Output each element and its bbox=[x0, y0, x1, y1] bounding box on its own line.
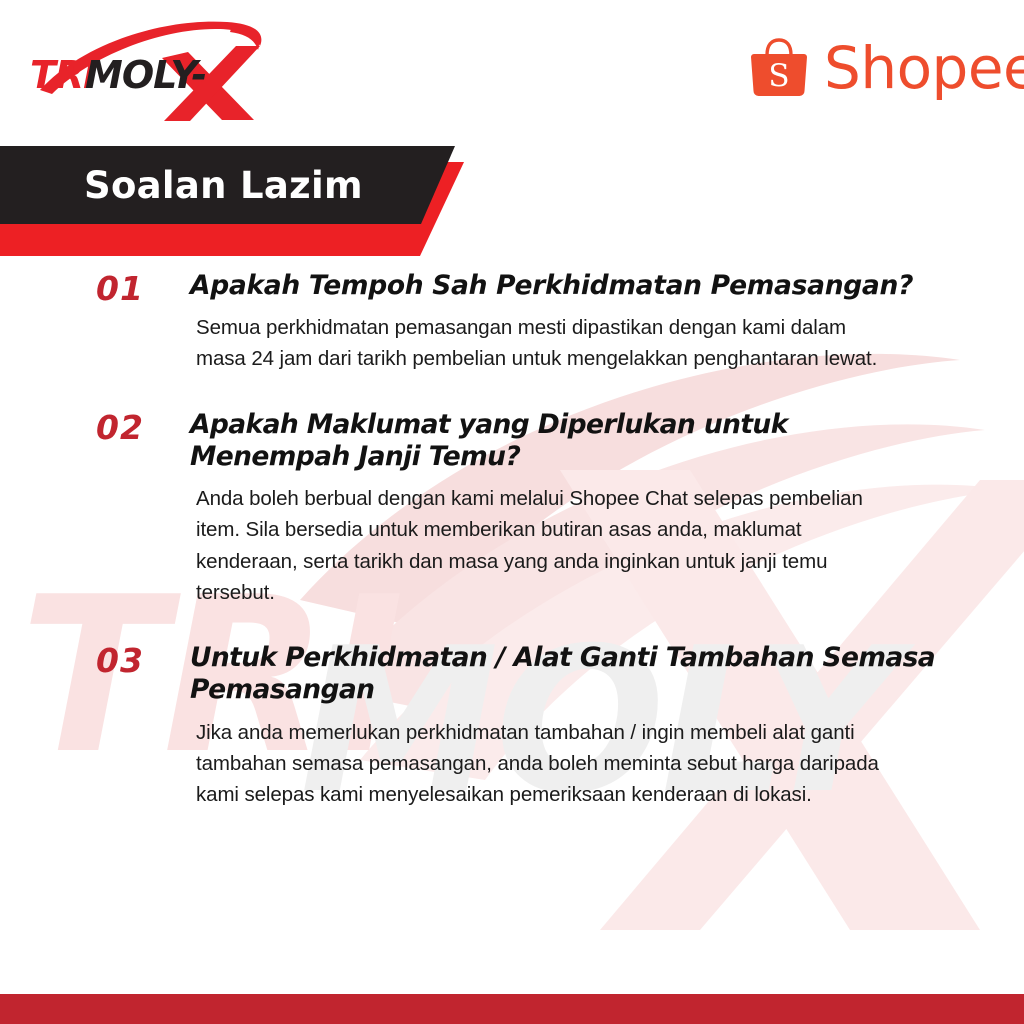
shopee-logo: S Shopee bbox=[746, 28, 996, 108]
faq-number-badge: 02 bbox=[96, 411, 170, 444]
page-title: Soalan Lazim bbox=[84, 146, 363, 224]
page-header: TRI MOLY- S Shopee bbox=[0, 0, 1024, 146]
footer-bar bbox=[0, 994, 1024, 1024]
trimoly-x-logo: TRI MOLY- bbox=[22, 16, 272, 126]
shopee-bag-icon: S bbox=[746, 35, 812, 101]
faq-number-badge: 03 bbox=[96, 644, 170, 677]
faq-question: Untuk Perkhidmatan / Alat Ganti Tambahan… bbox=[190, 642, 954, 707]
faq-question: Apakah Tempoh Sah Perkhidmatan Pemasanga… bbox=[190, 270, 954, 302]
faq-item: 03 Untuk Perkhidmatan / Alat Ganti Tamba… bbox=[0, 642, 1024, 810]
svg-text:MOLY-: MOLY- bbox=[85, 53, 206, 97]
faq-item: 01 Apakah Tempoh Sah Perkhidmatan Pemasa… bbox=[0, 270, 1024, 375]
section-banner: Soalan Lazim bbox=[0, 140, 560, 240]
faq-content: Apakah Maklumat yang Diperlukan untuk Me… bbox=[190, 409, 954, 608]
faq-list: 01 Apakah Tempoh Sah Perkhidmatan Pemasa… bbox=[0, 270, 1024, 844]
faq-answer: Semua perkhidmatan pemasangan mesti dipa… bbox=[190, 312, 896, 374]
faq-page: TRI MOLY TRI MOLY- S Shopee bbox=[0, 0, 1024, 1024]
svg-text:S: S bbox=[768, 58, 789, 94]
faq-item: 02 Apakah Maklumat yang Diperlukan untuk… bbox=[0, 409, 1024, 608]
faq-content: Untuk Perkhidmatan / Alat Ganti Tambahan… bbox=[190, 642, 954, 810]
faq-answer: Anda boleh berbual dengan kami melalui S… bbox=[190, 483, 896, 608]
shopee-wordmark: Shopee bbox=[824, 39, 1024, 97]
faq-number-badge: 01 bbox=[96, 272, 170, 305]
faq-question: Apakah Maklumat yang Diperlukan untuk Me… bbox=[190, 409, 954, 474]
faq-answer: Jika anda memerlukan perkhidmatan tambah… bbox=[190, 717, 896, 810]
faq-content: Apakah Tempoh Sah Perkhidmatan Pemasanga… bbox=[190, 270, 954, 375]
